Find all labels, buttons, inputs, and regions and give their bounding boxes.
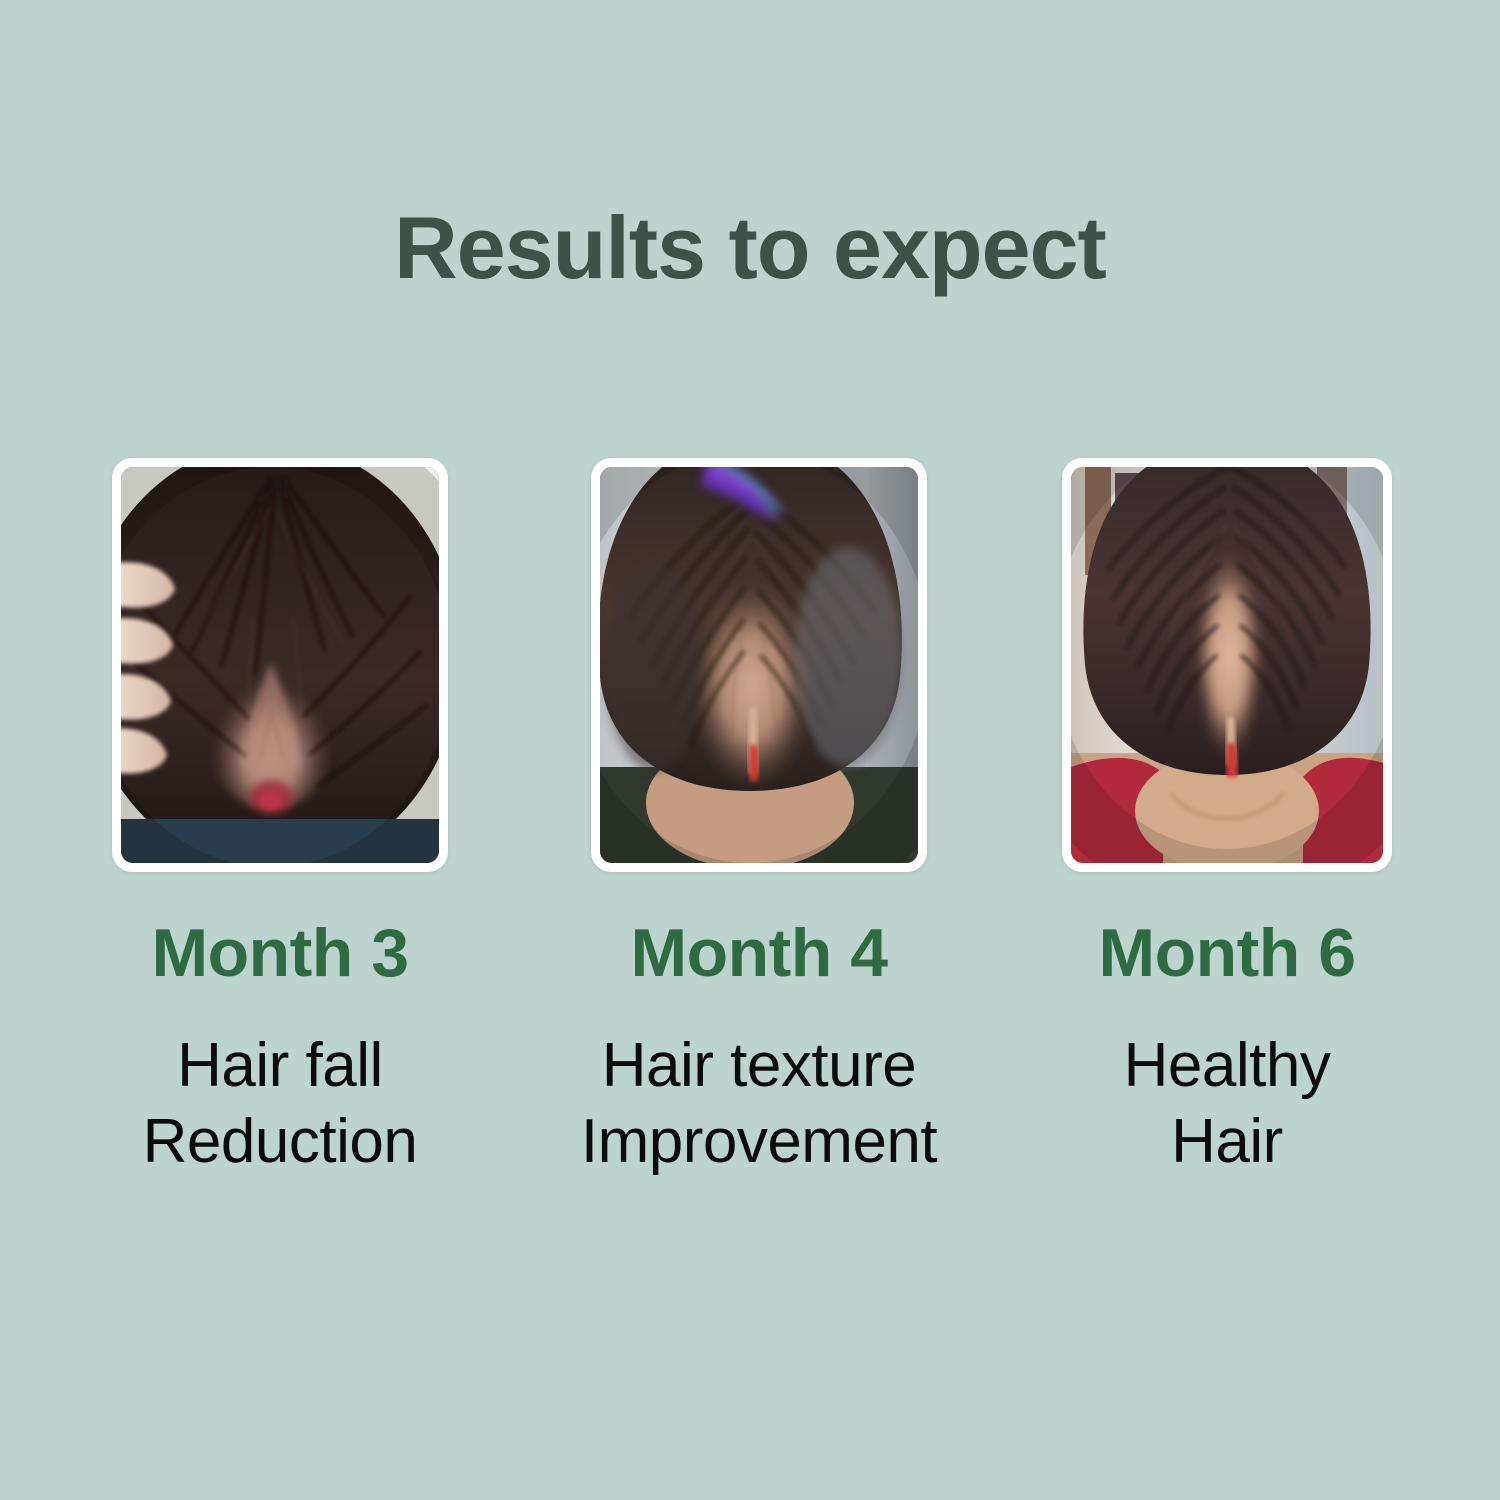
result-column-month-6: Month 6 Healthy Hair	[1044, 458, 1410, 1180]
results-columns: Month 3 Hair fall Reduction	[0, 458, 1500, 1218]
results-to-expect-infographic: Results to expect	[0, 0, 1500, 1500]
result-column-month-4: Month 4 Hair texture Improvement	[576, 458, 942, 1180]
description-line-1: Hair texture	[576, 1028, 942, 1104]
description-line-2: Hair	[1044, 1104, 1410, 1180]
photo-card-month-6[interactable]	[1062, 458, 1392, 872]
photo-card-month-3[interactable]	[112, 458, 448, 872]
description-month-3: Hair fall Reduction	[97, 1028, 463, 1180]
month-label-month-3: Month 3	[97, 916, 463, 990]
photo-card-month-4[interactable]	[591, 458, 927, 872]
description-line-1: Healthy	[1044, 1028, 1410, 1104]
scalp-photo-month-6	[1071, 467, 1383, 863]
result-column-month-3: Month 3 Hair fall Reduction	[97, 458, 463, 1180]
page-title: Results to expect	[0, 198, 1500, 298]
description-line-2: Improvement	[576, 1104, 942, 1180]
month-label-month-6: Month 6	[1044, 916, 1410, 990]
description-line-1: Hair fall	[97, 1028, 463, 1104]
scalp-photo-month-4	[600, 467, 918, 863]
scalp-photo-month-3	[121, 467, 439, 863]
month-label-month-4: Month 4	[576, 916, 942, 990]
description-month-4: Hair texture Improvement	[576, 1028, 942, 1180]
description-month-6: Healthy Hair	[1044, 1028, 1410, 1180]
description-line-2: Reduction	[97, 1104, 463, 1180]
